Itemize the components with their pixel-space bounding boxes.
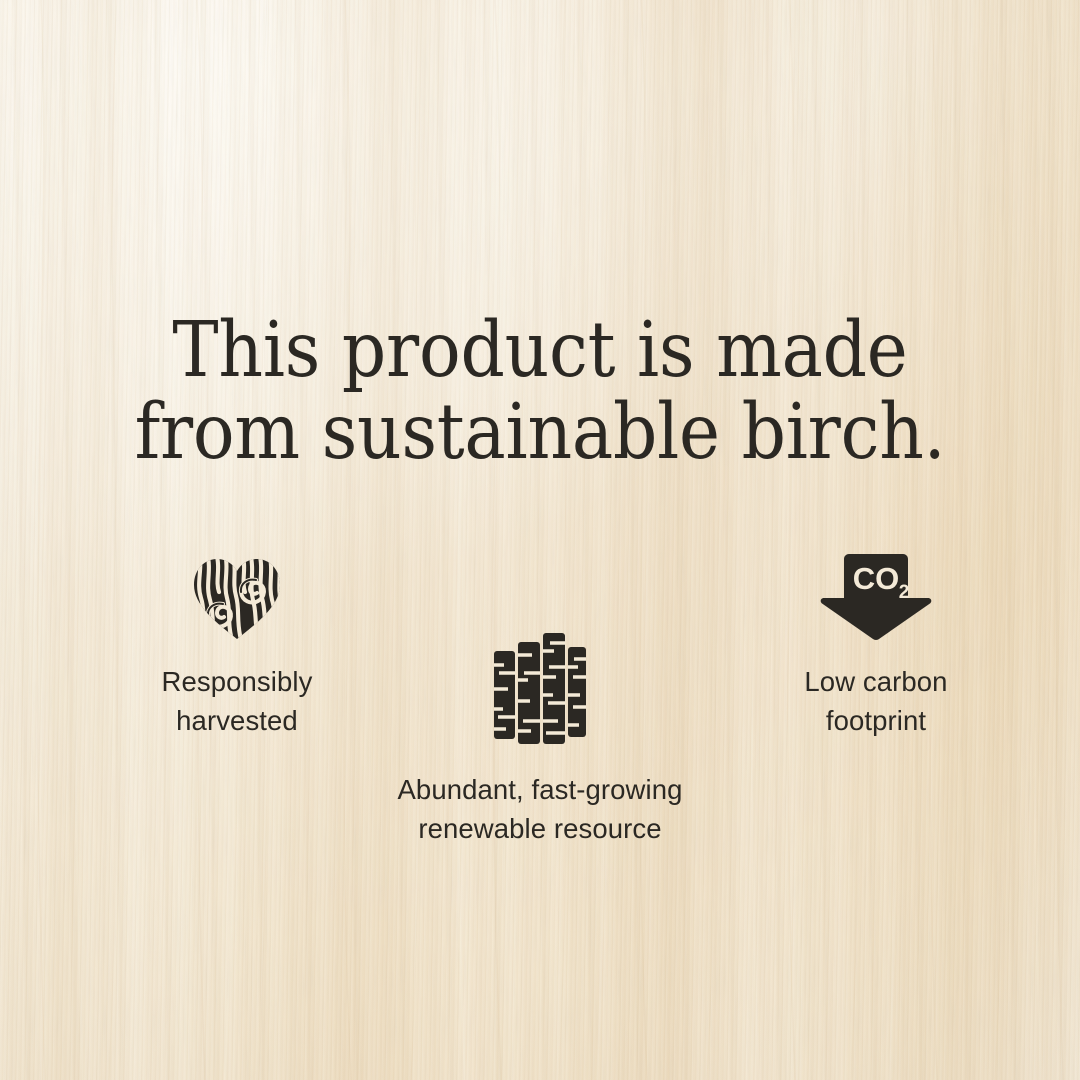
co2-label: CO xyxy=(853,561,900,596)
sustainable-birch-poster: This product is made from sustainable bi… xyxy=(0,0,1080,1080)
wood-grain-heart-icon xyxy=(192,558,282,640)
feature-low-carbon-footprint: CO 2 Low carbon footprint xyxy=(686,548,1066,740)
icon-container: CO 2 xyxy=(686,548,1066,640)
feature-caption: Low carbon footprint xyxy=(686,662,1066,740)
co2-subscript: 2 xyxy=(899,582,910,603)
page-title: This product is made from sustainable bi… xyxy=(0,310,1080,474)
birch-trees-icon xyxy=(494,633,586,744)
co2-down-arrow-icon: CO 2 xyxy=(820,554,932,640)
feature-caption: Abundant, fast-growing renewable resourc… xyxy=(290,770,790,848)
poster-content: This product is made from sustainable bi… xyxy=(0,0,1080,1080)
